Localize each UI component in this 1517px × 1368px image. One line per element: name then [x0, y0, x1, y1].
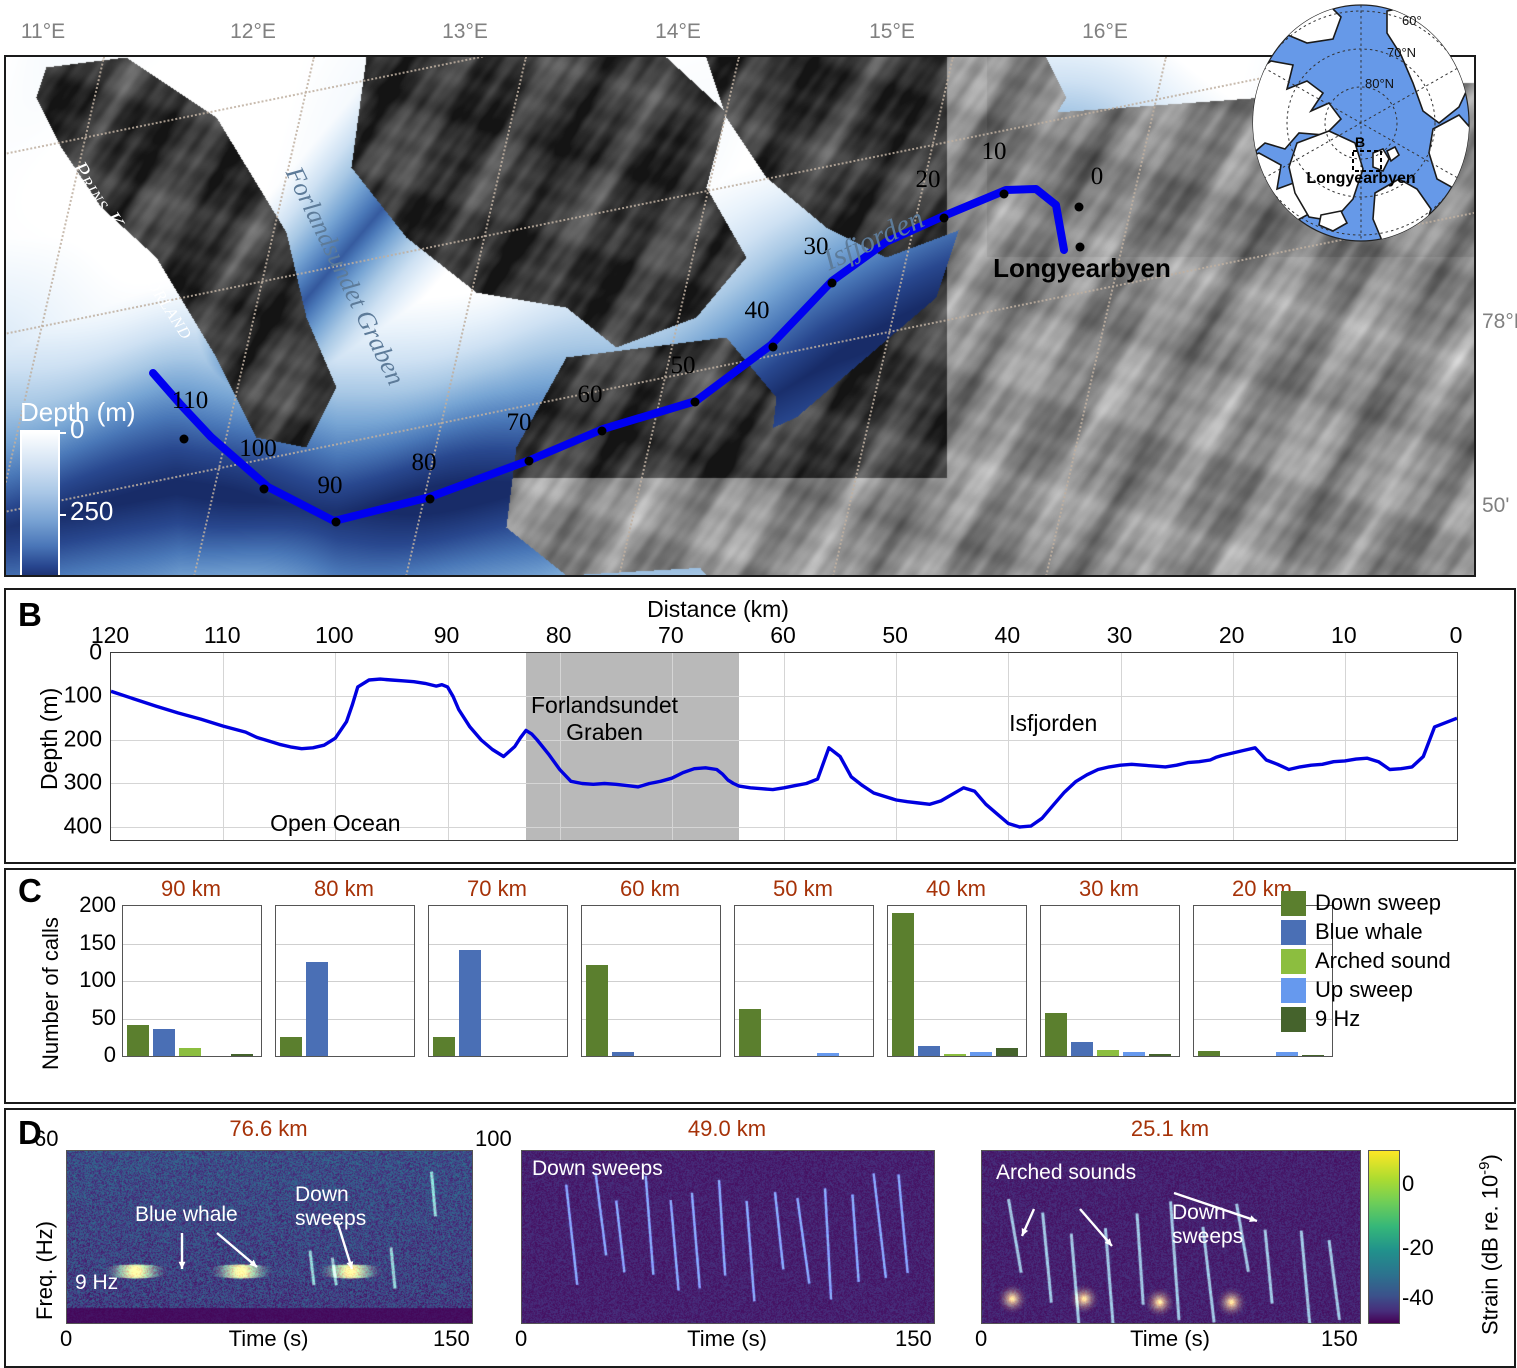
panel-c-subplot-title-4: 50 km [773, 876, 833, 902]
panel-c-legend-label-1: Blue whale [1315, 919, 1423, 945]
panel-d-overlay-2-1-line-0: Down [1172, 1201, 1243, 1225]
panel-c-bar-1-0 [280, 1037, 302, 1056]
strain-colorbar-label-tail: ) [1477, 1154, 1502, 1161]
strain-colorbar-tick-2: -40 [1402, 1285, 1434, 1311]
panel-b-annotation-1: ForlandsundetGraben [531, 692, 678, 746]
panel-b-ytick-100: 100 [52, 682, 102, 709]
panel-c-bar-0-2 [179, 1048, 201, 1056]
panel-d-spectrogram-1[interactable]: Down sweeps [521, 1150, 935, 1324]
panel-b-xtick-0: 0 [1450, 622, 1463, 649]
das-marker-label-100km: 100 [239, 435, 277, 463]
panel-b-annotation-1-line-1: Graben [531, 719, 678, 746]
panel-a-map: 11°E12°E13°E14°E15°E16°E 78°N50' 0102030… [0, 0, 1517, 580]
inset-lat-label-70n: 70°N [1387, 45, 1416, 60]
panel-c-subplot-title-6: 30 km [1079, 876, 1139, 902]
das-marker-dot-110km [180, 435, 189, 444]
panel-c-bar-6-4 [1149, 1054, 1171, 1056]
panel-d-xmax-0: 150 [433, 1326, 470, 1352]
panel-d-xlabel-2: Time (s) [1130, 1326, 1210, 1352]
depth-colorbar: Depth (m) 0 250 [20, 397, 136, 577]
panel-c-legend-row-1: Blue whale [1281, 919, 1451, 945]
panel-c-bar-7-4 [1302, 1055, 1324, 1057]
das-marker-dot-80km [426, 495, 435, 504]
panel-c-subplot-title-3: 60 km [620, 876, 680, 902]
panel-d-overlay-1-0-line-0: Down sweeps [532, 1157, 663, 1181]
panel-d-spectrogram-title-0: 76.6 km [229, 1116, 307, 1142]
panel-c-bar-5-4 [996, 1048, 1018, 1056]
panel-b-ytick-400: 400 [52, 812, 102, 839]
figure-root: 11°E12°E13°E14°E15°E16°E 78°N50' 0102030… [0, 0, 1517, 1368]
das-marker-dot-40km [769, 343, 778, 352]
das-marker-label-50km: 50 [671, 352, 696, 380]
panel-d-overlay-0-1-line-1: sweeps [295, 1207, 366, 1231]
longyearbyen-dot [1076, 243, 1085, 252]
panel-c-gridline-100 [735, 981, 873, 982]
panel-b-plot-area: Open OceanForlandsundetGrabenIsfjorden [110, 652, 1458, 841]
panel-d-xmin-2: 0 [975, 1326, 987, 1352]
panel-b-annotation-2-line-0: Isfjorden [1009, 710, 1097, 737]
strain-colorbar [1368, 1150, 1400, 1324]
panel-c-subplot-title-2: 70 km [467, 876, 527, 902]
panel-c-ytick-50: 50 [64, 1005, 116, 1031]
panel-c-legend-row-0: Down sweep [1281, 890, 1451, 916]
panel-b-xtick-20: 20 [1219, 622, 1245, 649]
panel-d-overlay-2-0: Arched sounds [996, 1161, 1136, 1185]
panel-d-xmax-2: 150 [1321, 1326, 1358, 1352]
panel-c-legend-row-3: Up sweep [1281, 977, 1451, 1003]
panel-d-overlay-2-0-line-0: Arched sounds [996, 1161, 1136, 1185]
panel-d-overlay-0-1-line-0: Down [295, 1183, 366, 1207]
panel-c-bar-4-0 [739, 1009, 761, 1056]
longyearbyen-label: Longyearbyen [993, 253, 1171, 284]
das-marker-dot-60km [598, 427, 607, 436]
panel-c-bar-6-0 [1045, 1013, 1067, 1056]
panel-c-legend-label-2: Arched sound [1315, 948, 1451, 974]
arctic-inset-map[interactable]: 60° 70°N 80°N B Longyearbyen [1237, 3, 1486, 253]
das-marker-dot-20km [940, 214, 949, 223]
strain-colorbar-tick-0: 0 [1402, 1171, 1414, 1197]
panel-b-xtick-110: 110 [204, 622, 241, 649]
panel-b-ytick-0: 0 [52, 639, 102, 666]
panel-c-ytick-0: 0 [64, 1042, 116, 1068]
panel-b-ytick-300: 300 [52, 769, 102, 796]
panel-c-subplot-1[interactable] [275, 905, 415, 1057]
panel-c-legend-label-3: Up sweep [1315, 977, 1413, 1003]
panel-b-xtick-70: 70 [658, 622, 684, 649]
map-lon-tick-5: 16°E [1082, 20, 1128, 44]
panel-c-gridline-150 [429, 944, 567, 945]
panel-c-subplot-title-0: 90 km [161, 876, 221, 902]
panel-c-bar-5-0 [892, 913, 914, 1056]
panel-c-legend-swatch-2 [1281, 949, 1306, 974]
panel-c-subplot-title-1: 80 km [314, 876, 374, 902]
panel-d-spectrogram-canvas-0 [67, 1151, 472, 1323]
strain-colorbar-label: Strain (dB re. 10-9) [1476, 1154, 1503, 1335]
panel-d-overlay-0-0-line-0: Blue whale [135, 1203, 238, 1227]
panel-c-letter: C [18, 872, 42, 910]
das-marker-dot-10km [1000, 190, 1009, 199]
panel-c-gridline-100 [276, 981, 414, 982]
panel-d-xmax-1: 150 [895, 1326, 932, 1352]
panel-c-bar-5-3 [970, 1052, 992, 1056]
panel-c-ylabel: Number of calls [38, 917, 64, 1070]
panel-c-ytick-200: 200 [64, 892, 116, 918]
panel-c-gridline-50 [429, 1019, 567, 1020]
das-marker-dot-70km [525, 457, 534, 466]
strain-colorbar-label-exponent: -9 [1476, 1162, 1493, 1175]
das-marker-label-70km: 70 [507, 409, 532, 437]
panel-c-legend: Down sweepBlue whaleArched soundUp sweep… [1281, 890, 1451, 1035]
panel-c-legend-label-4: 9 Hz [1315, 1006, 1360, 1032]
das-marker-label-20km: 20 [916, 166, 941, 194]
panel-c-gridline-100 [123, 981, 261, 982]
panel-c-gridline-50 [276, 1019, 414, 1020]
panel-b-annotation-0-line-0: Open Ocean [270, 810, 400, 837]
das-marker-label-60km: 60 [578, 381, 603, 409]
map-lon-tick-1: 12°E [230, 20, 276, 44]
inset-city-label: Longyearbyen [1306, 170, 1415, 187]
panel-d-overlay-2-1-line-1: sweeps [1172, 1225, 1243, 1249]
das-marker-dot-90km [332, 518, 341, 527]
panel-d-overlay-0-1: Downsweeps [295, 1183, 366, 1231]
panel-c-legend-row-4: 9 Hz [1281, 1006, 1451, 1032]
panel-c-bar-3-1 [612, 1052, 634, 1056]
panel-b-xtick-60: 60 [770, 622, 796, 649]
map-lon-tick-0: 11°E [21, 20, 65, 44]
das-marker-dot-0km [1075, 203, 1084, 212]
map-lon-tick-4: 15°E [869, 20, 915, 44]
panel-c-subplot-4[interactable] [734, 905, 874, 1057]
panel-c-bar-6-1 [1071, 1042, 1093, 1056]
panel-b-ytick-200: 200 [52, 725, 102, 752]
panel-c-gridline-100 [429, 981, 567, 982]
panel-b-annotation-2: Isfjorden [1009, 710, 1097, 737]
map-lon-tick-3: 14°E [655, 20, 701, 44]
panel-d-xlabel-1: Time (s) [687, 1326, 767, 1352]
panel-d-overlay-0-2-line-0: 9 Hz [75, 1271, 118, 1295]
panel-b-depth-profile: B Distance (km) Depth (m) 12011010090807… [4, 588, 1516, 864]
panel-b-xtick-10: 10 [1331, 622, 1357, 649]
panel-c-bar-6-2 [1097, 1050, 1119, 1056]
strain-colorbar-label-main: Strain (dB re. 10 [1477, 1175, 1502, 1335]
panel-d-spectrograms: D Freq. (Hz) 76.6 kmBlue whaleDownsweeps… [4, 1108, 1516, 1368]
panel-b-xtick-40: 40 [995, 622, 1021, 649]
panel-d-spectrogram-title-1: 49.0 km [688, 1116, 766, 1142]
das-marker-label-0km: 0 [1091, 163, 1104, 191]
panel-b-xlabel: Distance (km) [647, 596, 789, 623]
inset-panel-ref-b: B [1355, 134, 1365, 150]
panel-c-call-counts: C Number of calls 050100150200 90 km80 k… [4, 868, 1516, 1104]
panel-c-subplot-5[interactable] [887, 905, 1027, 1057]
das-marker-label-10km: 10 [982, 138, 1007, 166]
panel-c-bar-3-0 [586, 965, 608, 1056]
panel-c-bar-0-4 [231, 1054, 253, 1056]
panel-c-bar-5-1 [918, 1046, 940, 1057]
das-marker-label-90km: 90 [318, 472, 343, 500]
panel-d-ylabel: Freq. (Hz) [32, 1221, 58, 1320]
panel-c-bar-4-3 [817, 1053, 839, 1056]
panel-c-gridline-150 [1041, 944, 1179, 945]
panel-b-xtick-90: 90 [434, 622, 460, 649]
panel-c-gridline-150 [123, 944, 261, 945]
map-lat-tick-1: 50' [1482, 494, 1509, 518]
panel-d-xlabel-0: Time (s) [229, 1326, 309, 1352]
panel-c-ytick-150: 150 [64, 930, 116, 956]
panel-c-bar-0-0 [127, 1025, 149, 1057]
panel-d-spectrogram-2[interactable]: Arched soundsDownsweeps [981, 1150, 1361, 1324]
panel-c-bar-1-1 [306, 962, 328, 1057]
panel-b-xtick-50: 50 [882, 622, 908, 649]
panel-c-legend-label-0: Down sweep [1315, 890, 1441, 916]
panel-b-xtick-30: 30 [1107, 622, 1133, 649]
strain-colorbar-tick-1: -20 [1402, 1235, 1434, 1261]
inset-lat-label-80n: 80°N [1365, 76, 1394, 91]
panel-d-ymax-1: 100 [475, 1126, 512, 1152]
panel-c-subplot-3[interactable] [581, 905, 721, 1057]
panel-c-legend-swatch-1 [1281, 920, 1306, 945]
panel-c-bar-2-1 [459, 950, 481, 1057]
panel-b-xtick-80: 80 [546, 622, 572, 649]
das-marker-label-80km: 80 [412, 449, 437, 477]
panel-c-bar-7-0 [1198, 1051, 1220, 1056]
panel-c-subplot-title-5: 40 km [926, 876, 986, 902]
panel-c-subplot-2[interactable] [428, 905, 568, 1057]
panel-c-legend-swatch-3 [1281, 978, 1306, 1003]
panel-d-overlay-0-2: 9 Hz [75, 1271, 118, 1295]
depth-profile-line [111, 679, 1457, 827]
inset-lat-label-60: 60° [1402, 13, 1422, 28]
panel-c-subplot-6[interactable] [1040, 905, 1180, 1057]
panel-b-xtick-100: 100 [315, 622, 353, 649]
panel-d-overlay-0-0: Blue whale [135, 1203, 238, 1227]
depth-colorbar-tick-0: 0 [70, 414, 84, 445]
arctic-inset-svg: 60° 70°N 80°N B Longyearbyen [1237, 3, 1486, 253]
panel-c-ytick-100: 100 [64, 967, 116, 993]
depth-colorbar-tick-250: 250 [70, 496, 113, 527]
panel-b-annotation-1-line-0: Forlandsundet [531, 692, 678, 719]
das-marker-dot-30km [828, 279, 837, 288]
das-marker-dot-100km [260, 485, 269, 494]
panel-c-bar-7-3 [1276, 1052, 1298, 1057]
panel-d-xmin-0: 0 [60, 1326, 72, 1352]
panel-d-overlay-1-0: Down sweeps [532, 1157, 663, 1181]
panel-c-bar-5-2 [944, 1054, 966, 1056]
panel-c-gridline-150 [735, 944, 873, 945]
panel-c-bar-0-1 [153, 1029, 175, 1056]
panel-d-xmin-1: 0 [515, 1326, 527, 1352]
panel-c-subplot-0[interactable] [122, 905, 262, 1057]
depth-colorbar-gradient [20, 430, 60, 577]
das-marker-dot-50km [691, 398, 700, 407]
panel-d-ymax-0: 60 [34, 1126, 58, 1152]
panel-b-annotation-0: Open Ocean [270, 810, 400, 837]
panel-c-gridline-50 [123, 1019, 261, 1020]
map-lat-tick-0: 78°N [1482, 310, 1517, 334]
panel-d-overlay-2-1: Downsweeps [1172, 1201, 1243, 1249]
panel-c-legend-row-2: Arched sound [1281, 948, 1451, 974]
panel-c-bar-2-0 [433, 1037, 455, 1056]
panel-c-legend-swatch-0 [1281, 891, 1306, 916]
panel-c-bar-6-3 [1123, 1052, 1145, 1057]
das-marker-label-110km: 110 [172, 387, 209, 415]
panel-b-letter: B [18, 596, 42, 634]
panel-d-spectrogram-0[interactable]: Blue whaleDownsweeps9 Hz [66, 1150, 473, 1324]
panel-c-gridline-100 [1041, 981, 1179, 982]
panel-c-legend-swatch-4 [1281, 1007, 1306, 1032]
panel-c-gridline-150 [276, 944, 414, 945]
map-lon-tick-2: 13°E [442, 20, 488, 44]
panel-c-gridline-150 [582, 944, 720, 945]
panel-d-spectrogram-title-2: 25.1 km [1131, 1116, 1209, 1142]
das-marker-label-40km: 40 [745, 297, 770, 325]
